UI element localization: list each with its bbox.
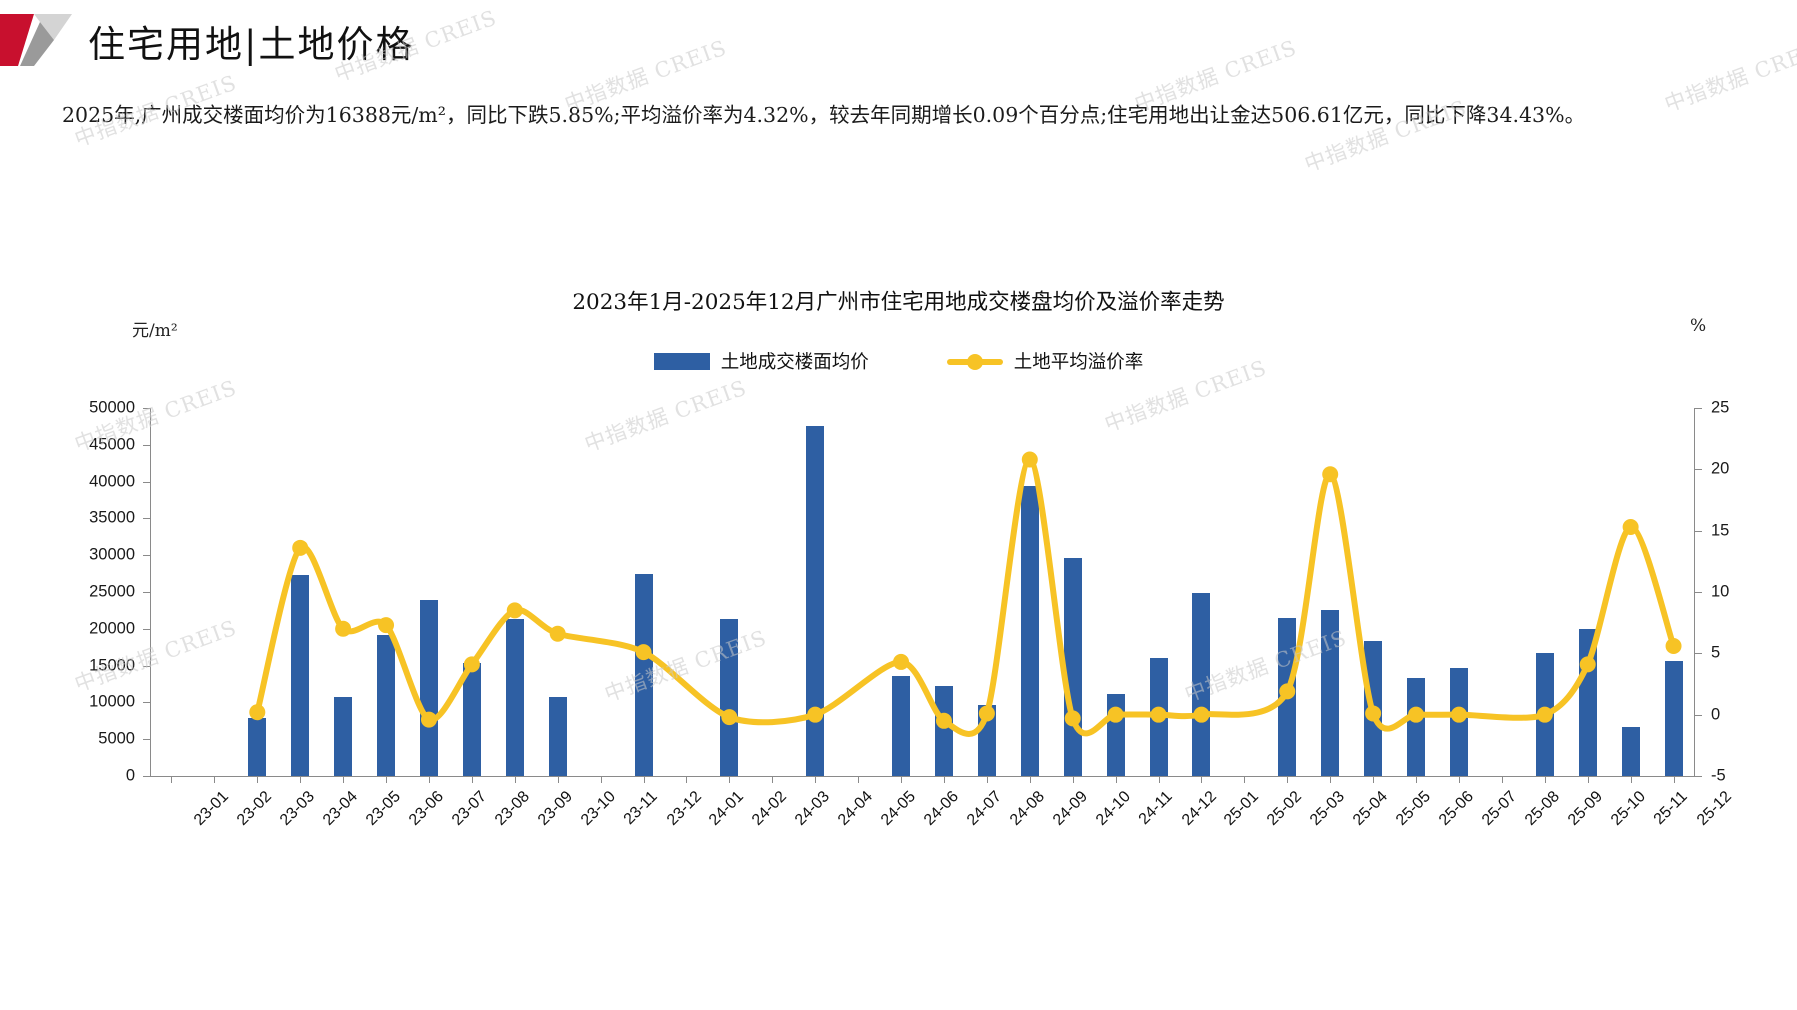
line-point-24-12[interactable]: 24-12: 0% [1151,707,1167,723]
y-tick-left [143,555,150,556]
x-tick-label-25-04: 25-04 [1350,788,1392,830]
y-tick-right [1695,592,1702,593]
plot-area: 0500010000150002000025000300003500040000… [150,408,1695,776]
x-tick [1159,776,1160,783]
y-tick-label-right: 20 [1711,460,1771,479]
line-point-23-03[interactable]: 23-03: 0.2% [249,704,265,720]
x-tick [515,776,516,783]
x-tick [558,776,559,783]
x-tick [429,776,430,783]
x-tick-label-23-04: 23-04 [320,788,362,830]
line-point-23-07[interactable]: 23-07: -0.4% [421,712,437,728]
y-tick-label-right: 25 [1711,399,1771,418]
x-tick-label-24-07: 24-07 [964,788,1006,830]
line-point-24-07[interactable]: 24-07: -0.5% [936,713,952,729]
y-tick-label-right: 10 [1711,583,1771,602]
x-tick-label-24-03: 24-03 [792,788,834,830]
line-point-23-08[interactable]: 23-08: 4.1% [464,656,480,672]
line-point-23-09[interactable]: 23-09: 8.5% [507,602,523,618]
y-tick-right [1695,653,1702,654]
line-series: 23-03: 0.2%23-04: 13.6%23-05: 7%23-06: 7… [150,408,1695,776]
x-tick-label-25-05: 25-05 [1393,788,1435,830]
line-point-25-01[interactable]: 25-01: 0% [1193,707,1209,723]
x-tick-label-23-10: 23-10 [578,788,620,830]
line-point-25-12[interactable]: 25-12: 5.6% [1666,638,1682,654]
x-tick-label-25-10: 25-10 [1608,788,1650,830]
x-tick [1201,776,1202,783]
x-tick [1588,776,1589,783]
line-point-24-10[interactable]: 24-10: -0.3% [1065,710,1081,726]
y-tick-label-left: 50000 [55,399,135,418]
x-tick-label-23-11: 23-11 [620,788,661,829]
x-tick-label-24-11: 24-11 [1135,788,1176,829]
x-tick-label-25-06: 25-06 [1436,788,1478,830]
x-tick-label-25-09: 25-09 [1565,788,1607,830]
x-tick-label-24-01: 24-01 [706,788,748,830]
chart-container: 2023年1月-2025年12月广州市住宅用地成交楼盘均价及溢价率走势 元/m²… [0,230,1797,1010]
x-tick-label-25-07: 25-07 [1479,788,1521,830]
creis-logo-icon [0,14,72,66]
y-tick-left [143,666,150,667]
x-tick [601,776,602,783]
x-tick-label-25-02: 25-02 [1264,788,1306,830]
y-tick-label-left: 25000 [55,583,135,602]
x-tick [386,776,387,783]
line-point-23-05[interactable]: 23-05: 7% [335,621,351,637]
page-title: 住宅用地|土地价格 [88,14,414,68]
y-tick-right [1695,715,1702,716]
x-tick [901,776,902,783]
x-tick-label-25-08: 25-08 [1522,788,1564,830]
x-tick [1030,776,1031,783]
x-tick-label-23-08: 23-08 [492,788,534,830]
x-tick [815,776,816,783]
x-tick [772,776,773,783]
x-tick [472,776,473,783]
line-point-25-06[interactable]: 25-06: 0% [1408,707,1424,723]
y-tick-label-left: 40000 [55,472,135,491]
y-tick-left [143,739,150,740]
x-tick [1631,776,1632,783]
x-tick [1416,776,1417,783]
x-tick [1287,776,1288,783]
x-tick [686,776,687,783]
x-tick [1330,776,1331,783]
x-tick-label-23-06: 23-06 [406,788,448,830]
x-tick-label-24-09: 24-09 [1050,788,1092,830]
y-tick-left [143,629,150,630]
y-tick-left [143,776,150,777]
x-axis [150,776,1695,777]
y-tick-left [143,518,150,519]
line-point-23-10[interactable]: 23-10: 6.6% [550,626,566,642]
x-tick [858,776,859,783]
x-tick [1545,776,1546,783]
x-tick [987,776,988,783]
x-tick-label-24-10: 24-10 [1093,788,1135,830]
x-tick [214,776,215,783]
line-point-25-05[interactable]: 25-05: 0.1% [1365,705,1381,721]
x-tick [1502,776,1503,783]
x-tick [644,776,645,783]
x-tick [944,776,945,783]
x-tick [1073,776,1074,783]
y-tick-label-left: 35000 [55,509,135,528]
y-tick-left [143,482,150,483]
x-tick-label-24-12: 24-12 [1179,788,1221,830]
x-tick [1459,776,1460,783]
x-tick-label-23-09: 23-09 [535,788,577,830]
y-tick-label-left: 15000 [55,656,135,675]
y-tick-label-left: 30000 [55,546,135,565]
y-tick-left [143,592,150,593]
line-point-25-10[interactable]: 25-10: 4.1% [1580,656,1596,672]
y-tick-label-right: 15 [1711,521,1771,540]
page-header: 住宅用地|土地价格 [0,0,1797,80]
x-tick-label-24-02: 24-02 [749,788,791,830]
x-tick-label-23-01: 23-01 [191,788,233,830]
line-point-24-08[interactable]: 24-08: 0.1% [979,705,995,721]
y-tick-label-left: 0 [55,767,135,786]
premium-rate-line [257,460,1673,734]
y-tick-label-left: 20000 [55,619,135,638]
line-point-25-07[interactable]: 25-07: 0% [1451,707,1467,723]
line-point-24-11[interactable]: 24-11: 0% [1108,707,1124,723]
y-tick-label-right: 0 [1711,705,1771,724]
x-tick-label-25-12: 25-12 [1694,788,1736,830]
line-point-23-06[interactable]: 23-06: 7.3% [378,617,394,633]
x-tick-label-23-12: 23-12 [664,788,706,830]
y-tick-right [1695,776,1702,777]
line-point-25-03[interactable]: 25-03: 1.9% [1279,683,1295,699]
x-tick-label-25-01: 25-01 [1221,788,1263,830]
x-tick-label-23-05: 23-05 [363,788,405,830]
x-tick [1244,776,1245,783]
line-point-25-04[interactable]: 25-04: 19.6% [1322,466,1338,482]
x-tick-label-24-06: 24-06 [921,788,963,830]
y-tick-right [1695,469,1702,470]
x-tick-label-23-02: 23-02 [234,788,276,830]
line-point-24-06[interactable]: 24-06: 4.3% [893,654,909,670]
x-tick-label-24-04: 24-04 [835,788,877,830]
y-tick-label-left: 45000 [55,435,135,454]
y-tick-label-right: -5 [1711,767,1771,786]
y-tick-label-left: 5000 [55,730,135,749]
x-tick [171,776,172,783]
line-point-24-04[interactable]: 24-04: 0% [807,707,823,723]
line-point-23-12[interactable]: 23-12: 5.1% [636,644,652,660]
summary-paragraph: 2025年,广州成交楼面均价为16388元/m²，同比下跌5.85%;平均溢价率… [62,100,1762,131]
x-tick [343,776,344,783]
y-tick-left [143,445,150,446]
line-point-25-09[interactable]: 25-09: 0% [1537,707,1553,723]
x-tick-label-23-03: 23-03 [277,788,319,830]
y-tick-label-right: 5 [1711,644,1771,663]
line-point-23-04[interactable]: 23-04: 13.6% [292,540,308,556]
y-tick-left [143,408,150,409]
x-tick-label-25-03: 25-03 [1307,788,1349,830]
x-tick [300,776,301,783]
x-tick [729,776,730,783]
x-tick-label-25-11: 25-11 [1650,788,1691,829]
x-tick-label-24-05: 24-05 [878,788,920,830]
x-tick [1373,776,1374,783]
line-point-24-02[interactable]: 24-02: -0.2% [721,709,737,725]
x-tick [1674,776,1675,783]
line-point-24-09[interactable]: 24-09: 20.8% [1022,452,1038,468]
y-tick-left [143,702,150,703]
x-tick-label-23-07: 23-07 [449,788,491,830]
y-tick-right [1695,408,1702,409]
line-point-25-11[interactable]: 25-11: 15.3% [1623,519,1639,535]
x-tick [1116,776,1117,783]
x-tick-label-24-08: 24-08 [1007,788,1049,830]
x-tick [257,776,258,783]
y-tick-right [1695,531,1702,532]
y-tick-label-left: 10000 [55,693,135,712]
plot-wrapper: 0500010000150002000025000300003500040000… [0,230,1797,1010]
